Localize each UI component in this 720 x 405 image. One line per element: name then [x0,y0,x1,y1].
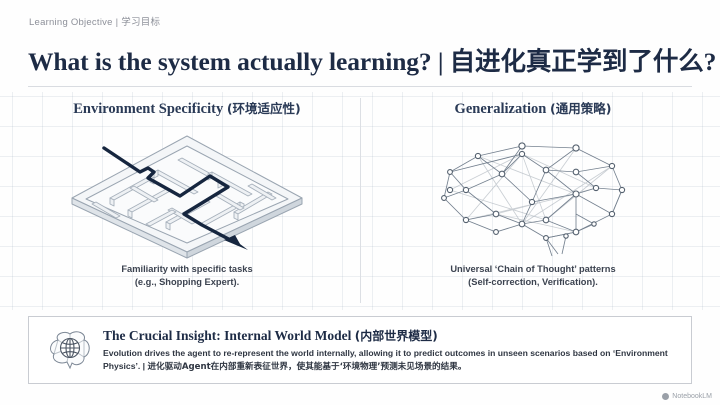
insight-title-cjk: (内部世界模型) [355,329,438,343]
insight-icon-wrap [39,328,101,372]
insight-title: The Crucial Insight: Internal World Mode… [103,327,679,344]
insight-body: The Crucial Insight: Internal World Mode… [101,327,679,373]
caption-left-line1: Familiarity with specific tasks [22,263,352,276]
notebooklm-logo-icon [662,393,669,400]
slide-root: Learning Objective | 学习目标 What is the sy… [0,0,720,405]
eyebrow-label: Learning Objective | 学习目标 [29,14,160,28]
caption-right: Universal ‘Chain of Thought’ patterns (S… [368,263,698,289]
globe-glyph [61,339,80,358]
insight-callout: The Crucial Insight: Internal World Mode… [28,316,692,384]
network-nodes [441,143,624,241]
caption-right-line2: (Self-correction, Verification). [368,276,698,289]
column-heading-right-en: Generalization [455,101,547,117]
page-title: What is the system actually learning? | … [28,41,716,78]
column-heading-left: Environment Specificity (环境适应性) [22,98,352,118]
title-divider-rule [28,86,692,87]
notebooklm-label: NotebookLM [672,393,712,400]
maze-illustration [22,128,352,263]
caption-left-line2: (e.g., Shopping Expert). [22,276,352,289]
brain-globe-icon [45,328,95,372]
isometric-maze-icon [62,128,312,260]
column-environment-specificity: Environment Specificity (环境适应性) [22,98,352,289]
insight-text: Evolution drives the agent to re-represe… [103,347,679,373]
caption-left: Familiarity with specific tasks (e.g., S… [22,263,352,289]
insight-text-line1: Evolution drives the agent to re-represe… [103,348,570,358]
column-heading-left-en: Environment Specificity [73,101,223,117]
insight-title-en: The Crucial Insight: Internal World Mode… [103,328,351,343]
notebooklm-watermark: NotebookLM [662,393,712,400]
column-heading-left-cjk: (环境适应性) [227,101,301,116]
column-generalization: Generalization (通用策略) [368,98,698,289]
brain-network-illustration [368,128,698,263]
insight-text-line2-cjk: 进化驱动Agent在内部重新表征世界，使其能基于‘环境物理’预测未见场景的结果。 [147,362,466,372]
column-heading-right: Generalization (通用策略) [368,98,698,118]
network-brain-icon [426,128,641,260]
caption-right-line1: Universal ‘Chain of Thought’ patterns [368,263,698,276]
column-divider [360,98,361,303]
column-heading-right-cjk: (通用策略) [550,101,611,116]
